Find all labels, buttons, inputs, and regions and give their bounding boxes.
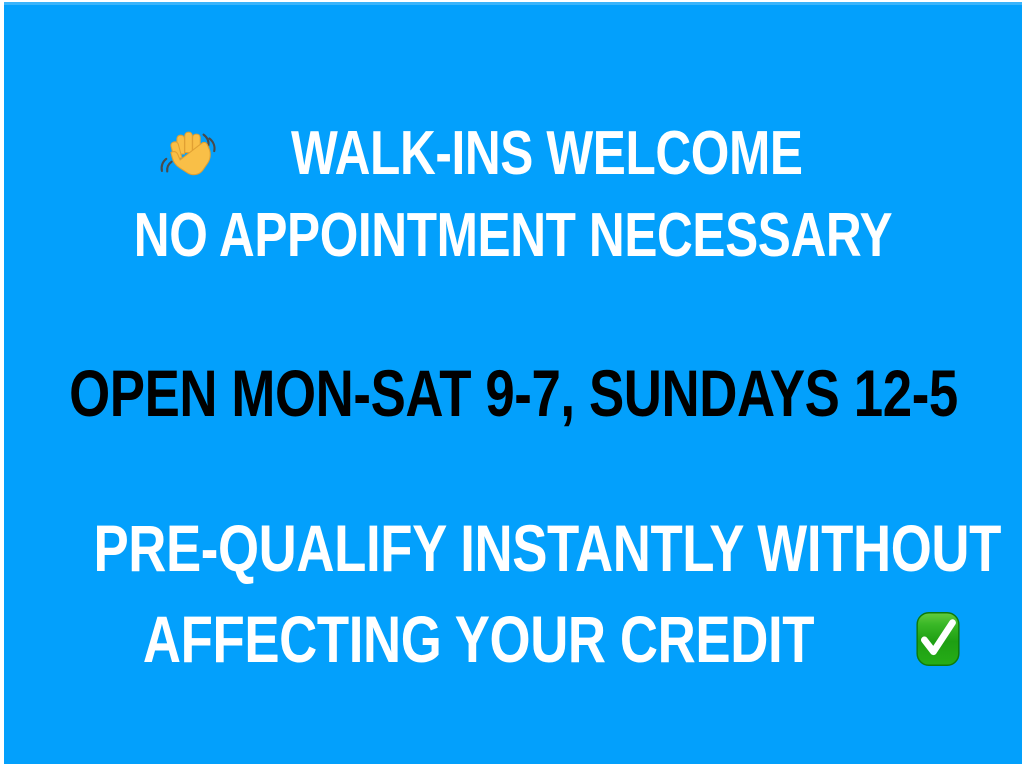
- line-pre-qualify-instantly: PRE-QUALIFY INSTANTLY WITHOUT: [4, 510, 1022, 586]
- line-affecting-your-credit: AFFECTING YOUR CREDIT: [4, 601, 1022, 677]
- line-text: NO APPOINTMENT NECESSARY: [134, 205, 892, 267]
- line-no-appointment-necessary: NO APPOINTMENT NECESSARY: [4, 201, 1022, 271]
- line-walk-ins-welcome: WALK-INS WELCOME: [4, 117, 1022, 191]
- check-mark-button-icon: [909, 610, 967, 668]
- line-text: PRE-QUALIFY INSTANTLY WITHOUT: [93, 515, 1001, 581]
- line-text: OPEN MON-SAT 9-7, SUNDAYS 12-5: [69, 360, 958, 426]
- sign-canvas: WALK-INS WELCOME NO APPOINTMENT NECESSAR…: [4, 2, 1022, 764]
- line-text: WALK-INS WELCOME: [291, 123, 803, 185]
- line-store-hours: OPEN MON-SAT 9-7, SUNDAYS 12-5: [4, 357, 1022, 429]
- waving-hand-icon: [159, 123, 221, 185]
- sign-board: WALK-INS WELCOME NO APPOINTMENT NECESSAR…: [0, 0, 1024, 768]
- line-text: AFFECTING YOUR CREDIT: [142, 606, 813, 672]
